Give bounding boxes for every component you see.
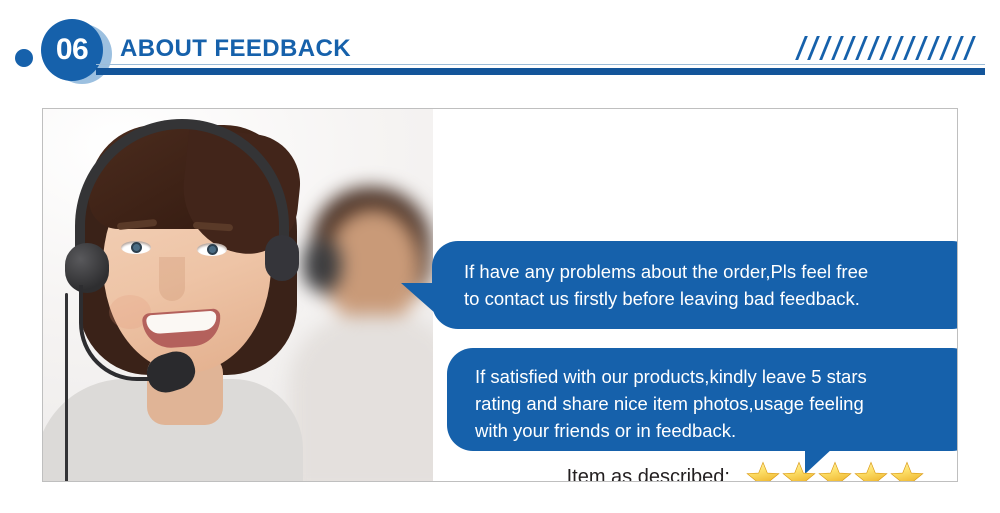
star-icon: [890, 460, 924, 482]
header-stripe-icon: [963, 36, 976, 60]
header-stripe-icon: [879, 36, 892, 60]
header-stripe-icon: [819, 36, 832, 60]
star-icon: [746, 460, 780, 482]
header-stripe-icon: [855, 36, 868, 60]
header-hairline-divider: [96, 64, 985, 65]
header-stripe-icon: [795, 36, 808, 60]
header-stripe-icon: [903, 36, 916, 60]
header-underline-bar: [96, 68, 985, 75]
star-icon: [818, 460, 852, 482]
star-icon: [854, 460, 888, 482]
speech-bubble-satisfied: If satisfied with our products,kindly le…: [447, 348, 958, 451]
star-icon: [782, 460, 816, 482]
content-frame: Smiling female customer service represen…: [42, 108, 958, 482]
speech-bubble-problems-text: If have any problems about the order,Pls…: [464, 258, 954, 312]
header-diagonal-stripes-icon: [798, 36, 978, 60]
header-stripe-icon: [927, 36, 940, 60]
header-stripe-icon: [939, 36, 952, 60]
header-stripe-icon: [831, 36, 844, 60]
rating-stars: [746, 460, 924, 482]
header-stripe-icon: [843, 36, 856, 60]
page-title: ABOUT FEEDBACK: [120, 35, 351, 63]
speech-bubble-satisfied-text: If satisfied with our products,kindly le…: [475, 363, 956, 444]
customer-service-photo: Smiling female customer service represen…: [43, 109, 433, 481]
header-stripe-icon: [891, 36, 904, 60]
header-stripe-icon: [867, 36, 880, 60]
speech-bubble-problems: If have any problems about the order,Pls…: [432, 241, 958, 329]
feedback-banner: 06 ABOUT FEEDBACK: [0, 0, 1000, 513]
rating-row: Item as described:: [530, 456, 958, 482]
rating-label: Item as described:: [530, 466, 746, 483]
header-stripe-icon: [807, 36, 820, 60]
speech-bubble-tail: [401, 283, 435, 313]
header-stripe-icon: [951, 36, 964, 60]
photo-foreground-agent: [51, 117, 351, 481]
rating-criteria-list: Item as described:Communication:Shipping…: [530, 456, 958, 482]
header-accent-dot-icon: [15, 49, 33, 67]
header-stripe-icon: [915, 36, 928, 60]
header-section-number-badge: 06: [41, 19, 103, 81]
